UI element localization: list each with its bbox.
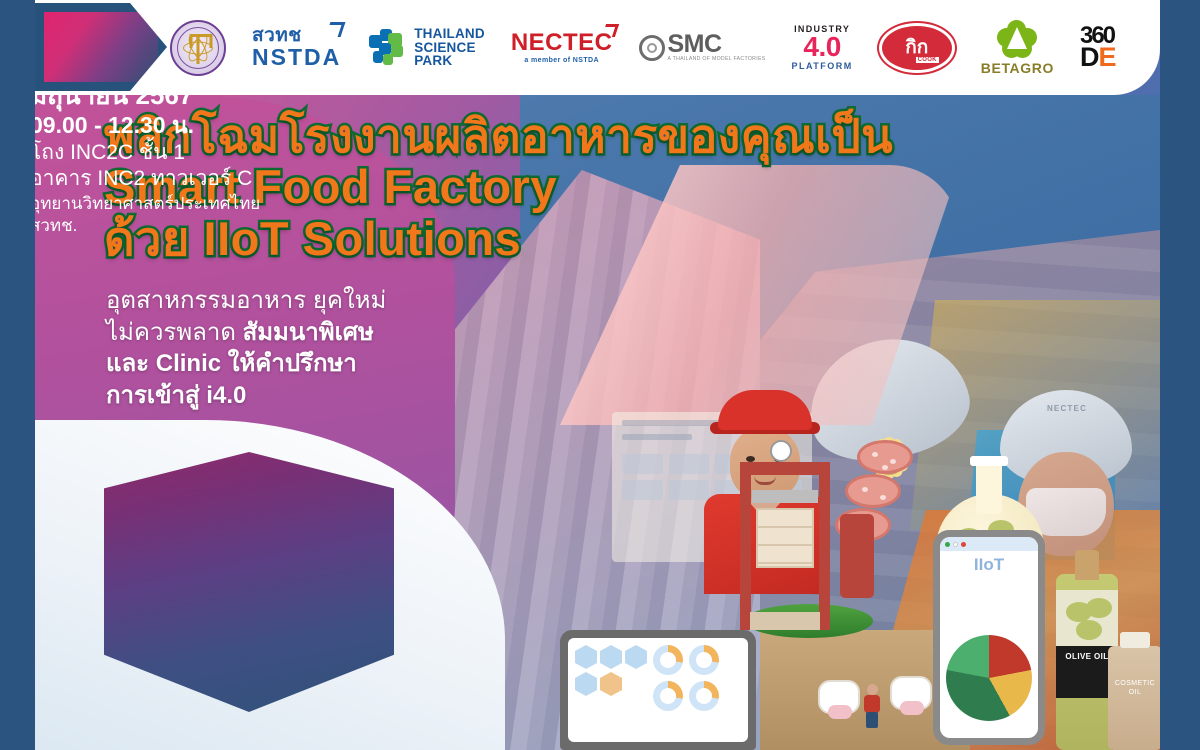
illustration-dashboard-laptop	[560, 630, 756, 750]
tsp-wordmark: THAILAND SCIENCE PARK	[414, 27, 485, 68]
phone-dot-red	[961, 542, 966, 547]
nstda-swoosh-icon	[326, 22, 346, 37]
logo-nstda: สวทช NSTDA	[252, 26, 341, 69]
phone-bar-chart	[940, 579, 1038, 629]
nstda-wordmark: สวทช NSTDA	[252, 26, 341, 69]
illustration-iiot-phone: IIoT	[933, 530, 1045, 745]
event-room: โถง INC2C ชั้น 1	[30, 140, 280, 166]
subtitle-line-3: และ Clinic ให้คำปรึกษา	[106, 348, 466, 380]
promotional-banner: NECTEC	[0, 0, 1200, 750]
logo-cpf-cook: กิก COOK	[879, 23, 955, 73]
de-bottom-text: DE	[1080, 46, 1116, 70]
edge-strip-right	[1160, 0, 1200, 750]
phone-pie-chart	[946, 635, 1032, 721]
event-building: อาคาร INC2 ทาวเวอร์ C	[30, 166, 280, 192]
logo-betagro: BETAGRO	[981, 20, 1054, 76]
nectec-sub-text: a member of NSTDA	[511, 57, 613, 64]
nstda-seal-icon	[170, 20, 226, 76]
hardhat-nectec-label: NECTEC	[1024, 404, 1110, 413]
subtitle: อุตสาหกรรมอาหาร ยุคใหม่ ไม่ควรพลาด สัมมน…	[106, 285, 466, 412]
subtitle-line-2-bold: สัมมนาพิเศษ	[243, 319, 374, 346]
subtitle-line-4: การเข้าสู่ i4.0	[106, 380, 466, 412]
cook-thai-text: กิก	[905, 38, 928, 57]
de-letter-e: E	[1098, 42, 1115, 72]
de-wordmark: 360 DE	[1080, 25, 1116, 70]
event-org: สวทช.	[30, 215, 280, 237]
logo-nstda-seal	[170, 20, 226, 76]
tsp-line-3: PARK	[414, 54, 485, 68]
smc-sub-text: A THAILAND OF MODEL FACTORIES	[668, 56, 766, 62]
logo-thailand-science-park: THAILAND SCIENCE PARK	[367, 27, 485, 68]
betagro-clover-icon	[997, 20, 1037, 58]
industry-mid-text: 4.0	[791, 34, 852, 61]
smc-main-text: SMC	[668, 33, 766, 56]
phone-dot-white	[953, 542, 958, 547]
de-letter-d: D	[1080, 42, 1099, 72]
cook-badge-icon: กิก COOK	[879, 23, 955, 73]
tsp-line-2: SCIENCE	[414, 41, 485, 55]
nectec-wordmark: NECTEC a member of NSTDA	[511, 31, 613, 64]
industry-bottom-text: PLATFORM	[791, 61, 852, 71]
illustration-cosmetic-oil-bottle: COSMETIC OIL	[1108, 632, 1162, 750]
subtitle-line-1: อุตสาหกรรมอาหาร ยุคใหม่	[106, 285, 466, 317]
subtitle-line-2: ไม่ควรพลาด สัมมนาพิเศษ	[106, 317, 466, 349]
logo-smc: SMC A THAILAND OF MODEL FACTORIES	[639, 33, 766, 62]
nectec-main-text: NECTEC	[511, 31, 613, 55]
cook-tag-text: COOK	[916, 57, 939, 63]
cosmetic-oil-label: COSMETIC OIL	[1108, 646, 1162, 750]
logo-industry-4-0: INDUSTRY 4.0 PLATFORM	[791, 24, 852, 71]
tsp-line-1: THAILAND	[414, 27, 485, 41]
tsp-tree-icon	[367, 27, 407, 67]
smc-ring-icon	[639, 35, 665, 61]
logo-bar: สวทช NSTDA THAILAND SCIENCE	[35, 0, 1160, 95]
nstda-en-text: NSTDA	[252, 46, 341, 69]
logo-360-de: 360 DE	[1080, 25, 1116, 70]
betagro-text: BETAGRO	[981, 60, 1054, 76]
logo-nectec: NECTEC a member of NSTDA	[511, 31, 613, 64]
phone-dot-green	[945, 542, 950, 547]
partner-logos: สวทช NSTDA THAILAND SCIENCE	[170, 20, 1115, 76]
event-time: 09.00 - 12.30 น.	[30, 111, 280, 140]
event-park: อุทยานวิทยาศาสตร์ประเทศไทย	[30, 193, 280, 215]
edge-strip-left	[0, 0, 35, 750]
phone-title: IIoT	[940, 555, 1038, 575]
decorative-arrow-badge	[35, 3, 167, 91]
subtitle-line-2-normal: ไม่ควรพลาด	[106, 319, 243, 346]
nectec-swoosh-icon	[601, 24, 618, 37]
illustration-hydraulic-press	[740, 462, 844, 630]
